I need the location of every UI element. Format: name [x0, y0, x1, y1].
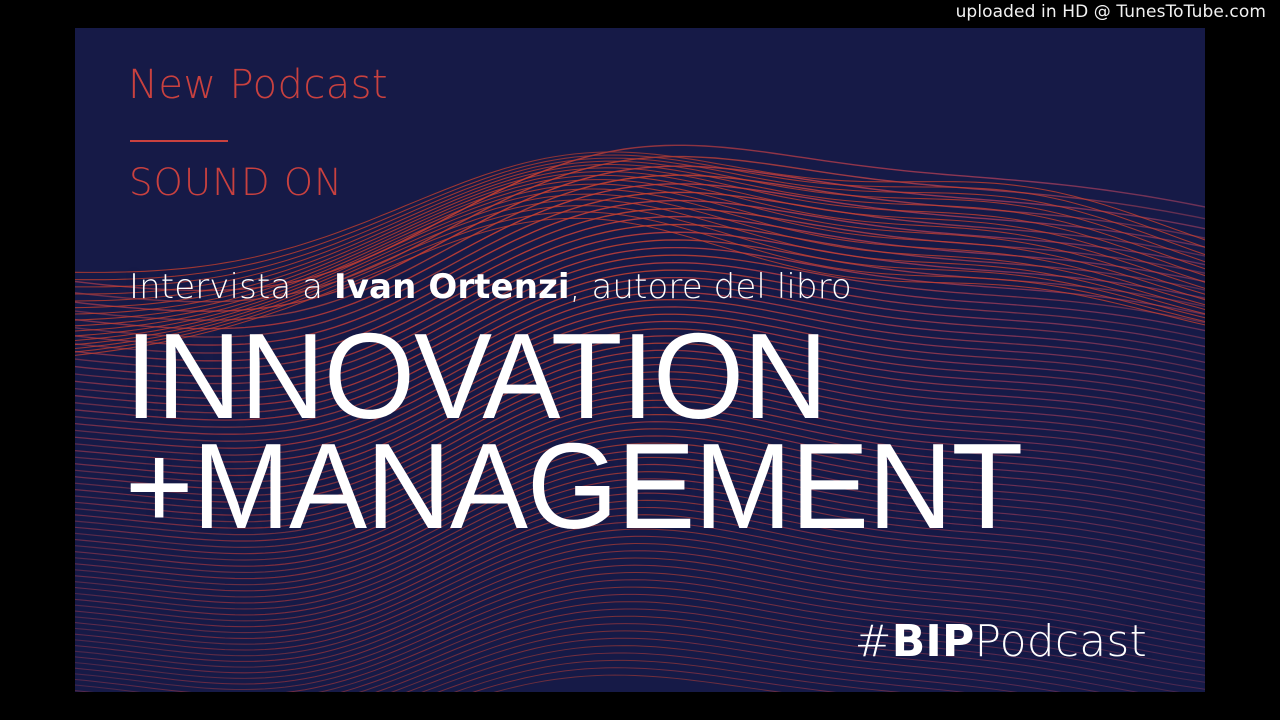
watermark-bar: uploaded in HD @ TunesToTube.com	[0, 0, 1280, 28]
eyebrow-new-podcast: New Podcast	[128, 65, 388, 105]
brand-hash: #	[855, 616, 892, 667]
subtitle-guest-name: Ivan Ortenzi	[334, 267, 570, 307]
watermark-text: uploaded in HD @ TunesToTube.com	[956, 2, 1266, 22]
subtitle-before: Intervista a	[129, 267, 334, 307]
brand-bip-podcast: #BIPPodcast	[855, 620, 1147, 664]
title-line-innovation: INNOVATION	[125, 324, 827, 429]
title-line-management: +MANAGEMENT	[125, 434, 1022, 539]
poster-content: New Podcast SOUND ON Intervista a Ivan O…	[75, 28, 1205, 692]
subtitle-line: Intervista a Ivan Ortenzi, autore del li…	[129, 270, 852, 304]
accent-divider	[130, 140, 228, 142]
podcast-poster: New Podcast SOUND ON Intervista a Ivan O…	[75, 28, 1205, 692]
kicker-sound-on: SOUND ON	[129, 164, 343, 201]
subtitle-after: , autore del libro	[570, 267, 852, 307]
brand-bip: BIP	[892, 616, 975, 667]
brand-podcast: Podcast	[974, 616, 1147, 667]
